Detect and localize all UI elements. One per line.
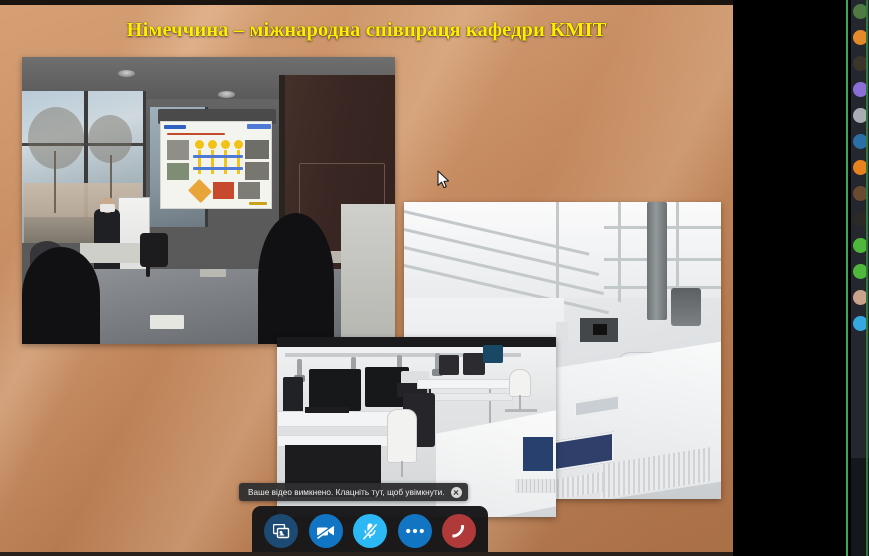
slide-image (213, 182, 234, 199)
slide-circle (234, 140, 243, 149)
ceiling-light-icon (118, 70, 135, 77)
slide-image (245, 140, 269, 159)
chair-base (505, 409, 537, 412)
blue-panel (523, 437, 553, 471)
projector-screen (160, 121, 272, 209)
shared-screen-stage: Німеччина – міжнародна співпраця кафедри… (0, 0, 733, 556)
ventilation-duct (671, 288, 701, 326)
end-call-icon (449, 524, 469, 538)
background-window-area (733, 0, 847, 556)
slide-heading-line (167, 133, 225, 135)
ceiling-light-icon (218, 91, 235, 98)
lab-monitor (483, 345, 503, 363)
foreground-person-left (22, 247, 100, 344)
page-title: Німеччина – міжнародна співпраця кафедри… (0, 19, 733, 42)
desk-object (200, 269, 226, 277)
screen-share-icon (273, 524, 290, 539)
slide-logo (164, 125, 186, 129)
slide-bar (211, 150, 214, 174)
microphone-off-icon (362, 522, 378, 540)
toggle-mic-button[interactable] (353, 514, 387, 548)
slide-circle (195, 140, 204, 149)
tooltip-message: Ваше відео вимкнено. Клацніть тут, щоб у… (248, 488, 445, 497)
call-control-bar (252, 506, 488, 556)
wall-display (593, 324, 607, 335)
lab-chair (387, 409, 417, 463)
desk-keyboard (305, 407, 349, 413)
accent-divider-line (846, 0, 848, 556)
slide-diamond (188, 179, 212, 203)
mouse-cursor (437, 170, 450, 189)
microscope (439, 355, 459, 375)
chair-post (146, 253, 150, 277)
toggle-video-button[interactable] (309, 514, 343, 548)
lab-chair (509, 369, 531, 397)
ellipsis-icon (405, 528, 425, 534)
slide-bar (198, 150, 201, 174)
ventilation-duct (647, 202, 667, 320)
tree-canopy (28, 107, 84, 169)
slide-image (167, 140, 189, 160)
support-column (618, 202, 621, 302)
lab-top-strip (277, 337, 556, 347)
foreground-person-right (258, 213, 334, 344)
slide-circle (208, 140, 217, 149)
right-light-panel (341, 204, 395, 344)
screen-root: Німеччина – міжнародна співпраця кафедри… (0, 0, 869, 556)
slide-image (167, 163, 189, 180)
slide-footer (249, 202, 267, 205)
office-chair (140, 233, 168, 267)
slide-divider (193, 155, 243, 158)
slide-bar (224, 150, 227, 174)
support-column (556, 202, 559, 312)
camera-off-icon (316, 524, 336, 539)
wall-cabinet (556, 322, 568, 368)
photo-conference-room-presentation (22, 57, 395, 344)
paper-sheet (150, 315, 184, 329)
more-options-button[interactable] (398, 514, 432, 548)
chair-post (401, 461, 403, 477)
presenter-face-mask (100, 204, 115, 212)
slide-tag (247, 124, 271, 129)
accent-divider-line-outer (866, 0, 868, 556)
keyboard (515, 479, 556, 493)
instrument-bench (417, 379, 517, 389)
video-disabled-tooltip[interactable]: Ваше відео вимкнено. Клацніть тут, щоб у… (239, 483, 468, 501)
slide-circle (221, 140, 230, 149)
share-screen-button[interactable] (264, 514, 298, 548)
slide-image (238, 182, 260, 199)
microscope (463, 353, 485, 375)
stage-bottom-strip (0, 552, 733, 556)
end-call-button[interactable] (442, 514, 476, 548)
tree-trunk (54, 151, 56, 213)
slide-bar (237, 150, 240, 174)
slide-divider (193, 167, 243, 170)
slide-image (245, 162, 269, 180)
computer-monitor (309, 369, 361, 411)
support-column (676, 202, 679, 302)
stage-top-strip (0, 0, 733, 5)
close-icon[interactable] (451, 487, 462, 498)
